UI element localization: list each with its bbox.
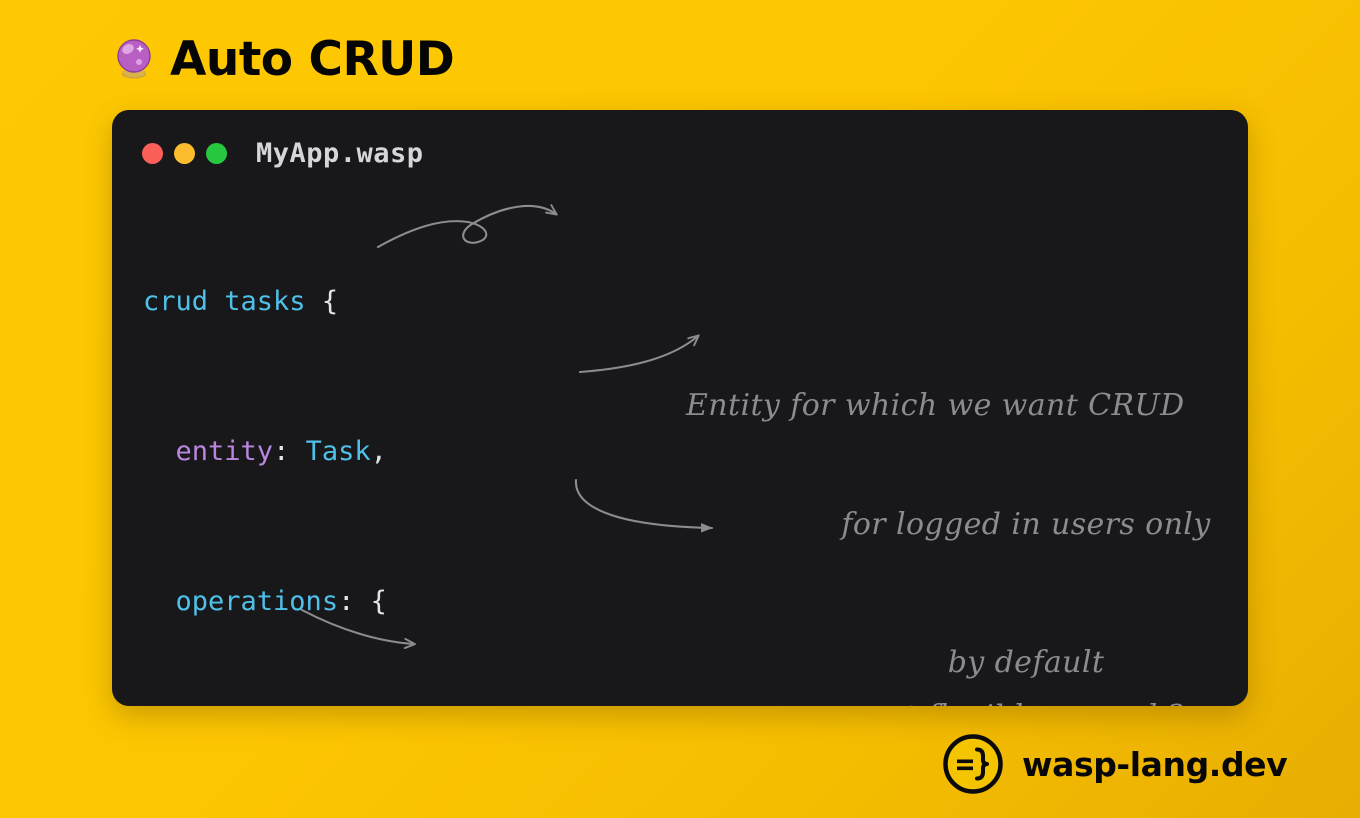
brand-label: wasp-lang.dev xyxy=(1022,745,1287,784)
code-token-comma: , xyxy=(371,436,387,467)
annotation-auth-line-1: for logged in users only xyxy=(835,502,1217,548)
code-token-crud: crud xyxy=(143,286,208,317)
code-indent xyxy=(143,586,176,617)
page-heading: Auto CRUD xyxy=(112,26,454,92)
code-token-entity: entity xyxy=(176,436,274,467)
annotation-override: not flexible enough? override with custo… xyxy=(812,607,1238,706)
code-token-colon: : xyxy=(273,436,306,467)
window-titlebar: MyApp.wasp xyxy=(142,138,424,168)
code-token-colon-brace: : { xyxy=(338,586,387,617)
maximize-button-dot[interactable] xyxy=(206,143,227,164)
code-token-brace-open: { xyxy=(306,286,339,317)
crystal-ball-icon xyxy=(112,37,156,81)
slide-canvas: Auto CRUD MyApp.wasp xyxy=(0,0,1360,818)
page-title: Auto CRUD xyxy=(170,32,454,87)
minimize-button-dot[interactable] xyxy=(174,143,195,164)
code-window: MyApp.wasp crud tasks { xyxy=(112,110,1248,706)
annotation-override-line-1: not flexible enough? xyxy=(812,695,1238,706)
code-token-task: Task xyxy=(306,436,371,467)
code-token-operations: operations xyxy=(176,586,339,617)
code-indent xyxy=(143,436,176,467)
close-button-dot[interactable] xyxy=(142,143,163,164)
brand-footer[interactable]: wasp-lang.dev xyxy=(942,732,1287,796)
code-token-tasks: tasks xyxy=(208,286,306,317)
wasp-logo-icon xyxy=(942,733,1004,795)
window-filename: MyApp.wasp xyxy=(256,138,424,169)
